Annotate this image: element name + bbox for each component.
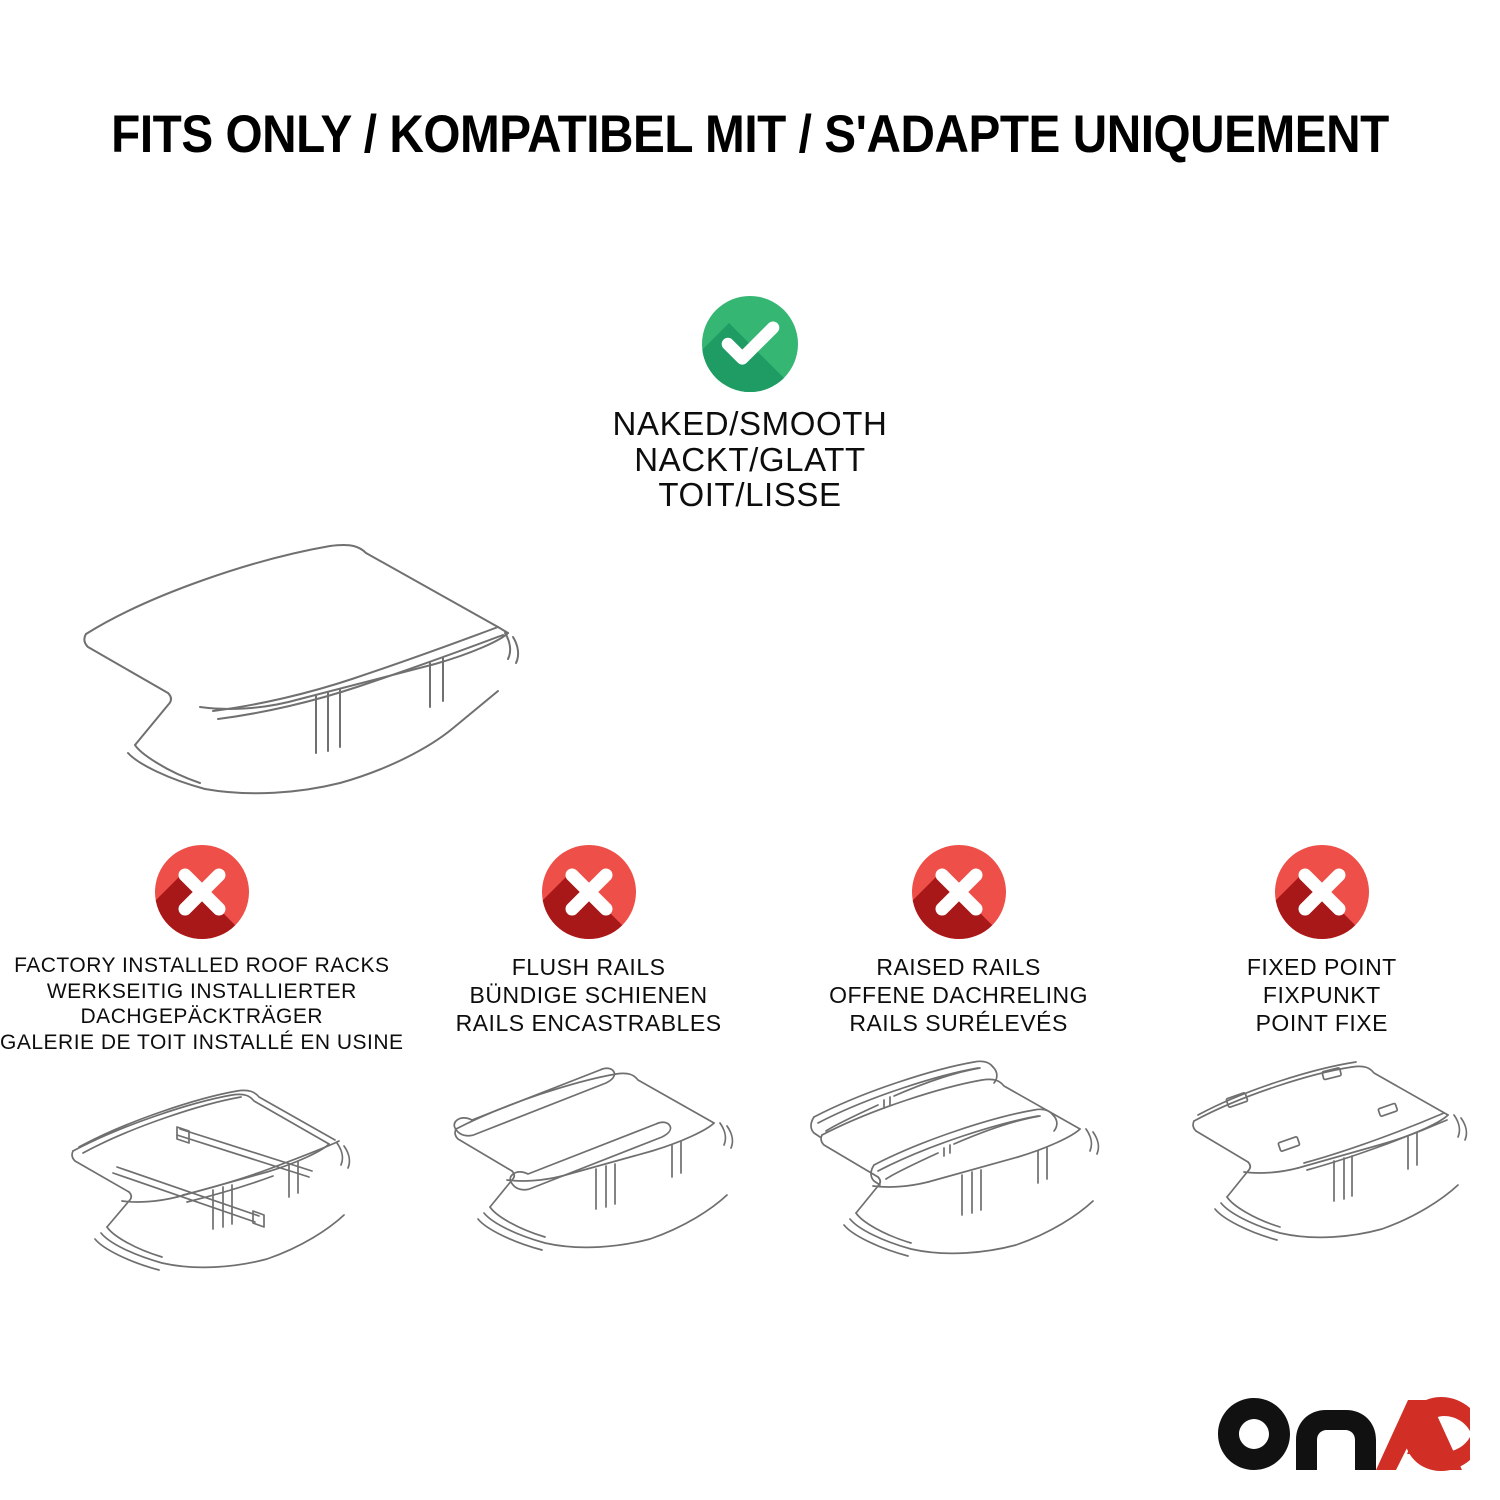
omac-logo-mark xyxy=(1216,1396,1472,1472)
flush-rails-illustration xyxy=(404,1059,774,1289)
item-caption: FIXED POINT FIXPUNKT POINT FIXE xyxy=(1144,953,1500,1037)
caption-line: OFFENE DACHRELING xyxy=(774,981,1144,1009)
check-circle-icon xyxy=(702,296,798,392)
factory-roof-rack-illustration xyxy=(0,1077,404,1307)
caption-line: RAISED RAILS xyxy=(774,953,1144,981)
caption-line: RAILS SURÉLEVÉS xyxy=(774,1009,1144,1037)
page-title: FITS ONLY / KOMPATIBEL MIT / S'ADAPTE UN… xyxy=(75,104,1425,165)
cross-circle-icon xyxy=(912,845,1006,939)
cross-circle-icon xyxy=(1275,845,1369,939)
caption-line: FIXED POINT xyxy=(1144,953,1500,981)
omac-logo xyxy=(1216,1396,1472,1472)
incompatible-item-fixed-point: FIXED POINT FIXPUNKT POINT FIXE xyxy=(1144,845,1500,1289)
caption-line: BÜNDIGE SCHIENEN xyxy=(404,981,774,1009)
caption-line: DACHGEPÄCKTRÄGER xyxy=(0,1004,404,1030)
caption-line: POINT FIXE xyxy=(1144,1009,1500,1037)
caption-line: RAILS ENCASTRABLES xyxy=(404,1009,774,1037)
incompatible-item-flush-rails: FLUSH RAILS BÜNDIGE SCHIENEN RAILS ENCAS… xyxy=(404,845,774,1289)
compatible-section: NAKED/SMOOTH NACKT/GLATT TOIT/LISSE xyxy=(0,296,1500,801)
caption-line: FACTORY INSTALLED ROOF RACKS xyxy=(0,953,404,979)
caption-line: GALERIE DE TOIT INSTALLÉ EN USINE xyxy=(0,1030,404,1056)
caption-line: FIXPUNKT xyxy=(1144,981,1500,1009)
incompatible-item-factory-roof-racks: FACTORY INSTALLED ROOF RACKS WERKSEITIG … xyxy=(0,845,404,1307)
caption-line: TOIT/LISSE xyxy=(0,477,1500,513)
caption-line: NAKED/SMOOTH xyxy=(0,406,1500,442)
naked-roof-illustration xyxy=(0,521,1500,801)
fixed-point-illustration xyxy=(1144,1059,1500,1289)
raised-rails-illustration xyxy=(774,1059,1144,1289)
incompatible-item-raised-rails: RAISED RAILS OFFENE DACHRELING RAILS SUR… xyxy=(774,845,1144,1289)
compatible-caption: NAKED/SMOOTH NACKT/GLATT TOIT/LISSE xyxy=(0,406,1500,513)
caption-line: FLUSH RAILS xyxy=(404,953,774,981)
item-caption: FACTORY INSTALLED ROOF RACKS WERKSEITIG … xyxy=(0,953,404,1055)
cross-circle-icon xyxy=(155,845,249,939)
cross-circle-icon xyxy=(542,845,636,939)
item-caption: FLUSH RAILS BÜNDIGE SCHIENEN RAILS ENCAS… xyxy=(404,953,774,1037)
incompatible-row: FACTORY INSTALLED ROOF RACKS WERKSEITIG … xyxy=(0,845,1500,1307)
caption-line: NACKT/GLATT xyxy=(0,442,1500,478)
caption-line: WERKSEITIG INSTALLIERTER xyxy=(0,979,404,1005)
item-caption: RAISED RAILS OFFENE DACHRELING RAILS SUR… xyxy=(774,953,1144,1037)
